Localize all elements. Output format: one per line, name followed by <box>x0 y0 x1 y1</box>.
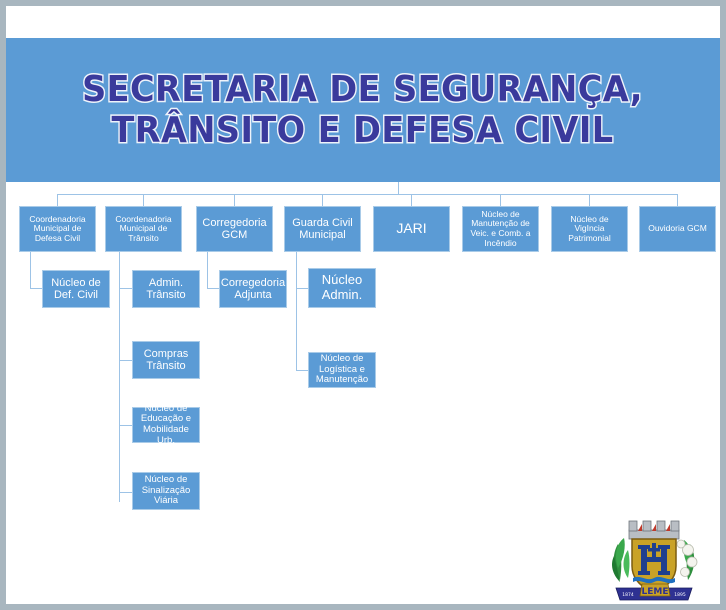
connector-drop-ouvidoria <box>677 194 678 206</box>
connector-drop-transito <box>143 194 144 206</box>
connector-drop-corregedoria <box>234 194 235 206</box>
connector-transito-branch-4 <box>119 492 132 493</box>
node-nucleo-vigilancia-patrimonial[interactable]: Núcleo de VigIncia Patrimonial <box>551 206 628 252</box>
connector-drop-manutencao <box>500 194 501 206</box>
crest-motto: LEME <box>642 587 669 597</box>
node-coordenadoria-transito[interactable]: Coordenadoria Municipal de Trânsito <box>105 206 182 252</box>
connector-drop-defesa-civil <box>57 194 58 206</box>
connector-transito-branch-3 <box>119 425 132 426</box>
connector-guarda-civil-branch-2 <box>296 370 308 371</box>
page-title: SECRETARIA DE SEGURANÇA, TRÂNSITO E DEFE… <box>83 69 644 152</box>
title-banner: SECRETARIA DE SEGURANÇA, TRÂNSITO E DEFE… <box>6 38 720 182</box>
coat-of-arms-leme: LEME 1874 1895 <box>602 510 706 604</box>
connector-guarda-civil-branch-1 <box>296 288 308 289</box>
node-ouvidoria-gcm[interactable]: Ouvidoria GCM <box>639 206 716 252</box>
connector-defesa-civil-stem <box>30 252 31 288</box>
node-label: Coordenadoria Municipal de Trânsito <box>106 215 181 244</box>
node-label: Núcleo de Logística e Manutenção <box>309 354 375 386</box>
node-label: Núcleo de Manutenção de Veic. e Comb. a … <box>463 210 538 248</box>
node-nucleo-educacao-mobilidade[interactable]: Núcleo de Educação e Mobilidade Urb. <box>132 407 200 443</box>
node-coordenadoria-defesa-civil[interactable]: Coordenadoria Municipal de Defesa Civil <box>19 206 96 252</box>
node-label: Núcleo de VigIncia Patrimonial <box>552 215 627 244</box>
document-page: SECRETARIA DE SEGURANÇA, TRÂNSITO E DEFE… <box>0 0 726 610</box>
node-label: Coordenadoria Municipal de Defesa Civil <box>20 215 95 244</box>
node-nucleo-logistica-manutencao[interactable]: Núcleo de Logística e Manutenção <box>308 352 376 388</box>
node-label: Corregedoria GCM <box>197 217 272 242</box>
crest-foliage-right <box>677 540 697 580</box>
node-label: Núcleo de Educação e Mobilidade Urb. <box>133 404 199 447</box>
connector-transito-branch-1 <box>119 288 132 289</box>
node-label: JARI <box>374 221 449 237</box>
node-label: Corregedoria Adjunta <box>220 277 286 302</box>
connector-root-stem <box>398 182 399 194</box>
node-nucleo-sinalizacao-viaria[interactable]: Núcleo de Sinalização Viária <box>132 472 200 510</box>
node-admin-transito[interactable]: Admin. Trânsito <box>132 270 200 308</box>
node-nucleo-def-civil[interactable]: Núcleo de Def. Civil <box>42 270 110 308</box>
node-nucleo-manutencao-veiculos[interactable]: Núcleo de Manutenção de Veic. e Comb. a … <box>462 206 539 252</box>
connector-drop-jari <box>411 194 412 206</box>
node-jari[interactable]: JARI <box>373 206 450 252</box>
node-label: Núcleo Admin. <box>309 273 375 302</box>
node-corregedoria-adjunta[interactable]: Corregedoria Adjunta <box>219 270 287 308</box>
crest-mural-crown <box>629 521 679 539</box>
node-label: Admin. Trânsito <box>133 277 199 302</box>
connector-drop-vigilancia <box>589 194 590 206</box>
node-label: Ouvidoria GCM <box>640 224 715 234</box>
connector-corregedoria-stem <box>207 252 208 288</box>
crest-left-date: 1874 <box>622 592 634 598</box>
node-label: Núcleo de Sinalização Viária <box>133 475 199 507</box>
connector-drop-guarda-civil <box>322 194 323 206</box>
connector-level1-bus <box>57 194 677 195</box>
node-nucleo-admin[interactable]: Núcleo Admin. <box>308 268 376 308</box>
node-label: Compras Trânsito <box>133 348 199 373</box>
node-corregedoria-gcm[interactable]: Corregedoria GCM <box>196 206 273 252</box>
node-label: Guarda Civil Municipal <box>285 217 360 242</box>
connector-defesa-civil-branch <box>30 288 42 289</box>
connector-corregedoria-branch <box>207 288 219 289</box>
connector-transito-stem <box>119 252 120 502</box>
crest-ribbon: LEME 1874 1895 <box>616 584 692 600</box>
connector-transito-branch-2 <box>119 360 132 361</box>
crest-foliage-left <box>612 538 630 582</box>
node-guarda-civil-municipal[interactable]: Guarda Civil Municipal <box>284 206 361 252</box>
connector-guarda-civil-stem <box>296 252 297 370</box>
node-label: Núcleo de Def. Civil <box>43 277 109 302</box>
crest-right-date: 1895 <box>674 592 686 598</box>
node-compras-transito[interactable]: Compras Trânsito <box>132 341 200 379</box>
